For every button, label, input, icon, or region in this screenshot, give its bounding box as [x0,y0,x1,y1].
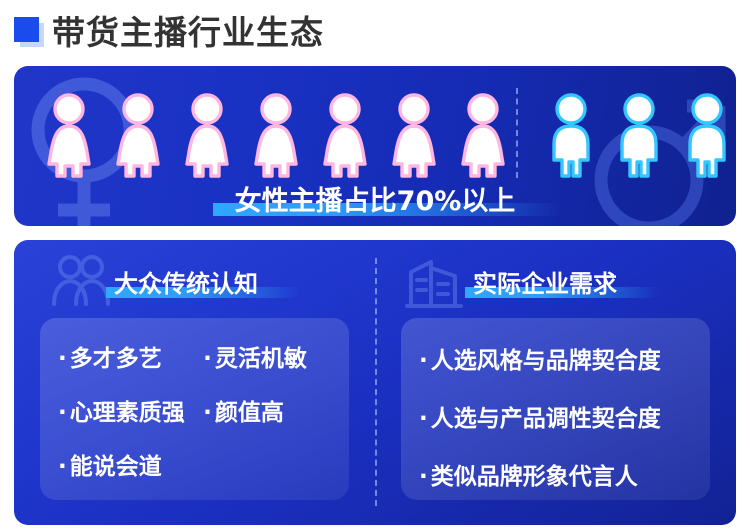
female-figure [109,92,167,178]
female-person-icon [178,92,236,178]
female-figure [385,92,443,178]
female-figure [454,92,512,178]
list-item: ·灵活机敏 [203,332,337,386]
column-enterprise-demand: 实际企业需求 ·人选风格与品牌契合度·人选与产品调性契合度·类似品牌形象代言人 [375,240,736,525]
male-figure [542,92,600,178]
list-item-label: 人选与产品调性契合度 [431,406,661,432]
list-item: ·人选与产品调性契合度 [419,390,698,448]
list-item: ·多才多艺 [58,332,203,386]
female-figure [40,92,98,178]
items-list-right: ·人选风格与品牌契合度·人选与产品调性契合度·类似品牌形象代言人 [419,332,698,490]
female-person-icon [454,92,512,178]
list-bullet: · [58,454,67,480]
column-header-left: 大众传统认知 [14,250,375,312]
female-figure [178,92,236,178]
items-box-right: ·人选风格与品牌契合度·人选与产品调性契合度·类似品牌形象代言人 [401,318,710,500]
list-item: ·颜值高 [203,386,337,440]
headline-text: 女性主播占比70%以上 [235,179,516,218]
list-item: ·类似品牌形象代言人 [419,448,698,506]
list-bullet: · [203,400,212,426]
list-item-label: 灵活机敏 [215,346,307,372]
list-item: ·人选风格与品牌契合度 [419,332,698,390]
gender-ratio-panel: 女性主播占比70%以上 [14,66,736,226]
column-header-right: 实际企业需求 [375,250,736,312]
column-title-left: 大众传统认知 [114,264,258,299]
male-figure [610,92,668,178]
list-item-label: 多才多艺 [70,346,162,372]
page-title: 带货主播行业生态 [52,16,324,49]
male-figure [678,92,736,178]
perception-vs-demand-panel: 大众传统认知 ·多才多艺·灵活机敏·心理素质强·颜值高·能说会道 实际企业需求 [14,240,736,525]
list-item-label: 类似品牌形象代言人 [431,464,638,490]
female-person-icon [316,92,374,178]
list-bullet: · [419,464,428,490]
male-person-icon [610,92,668,178]
list-item-label: 能说会道 [70,454,162,480]
female-person-icon [247,92,305,178]
list-item-label: 颜值高 [215,400,284,426]
gender-divider [516,88,518,178]
items-list-left: ·多才多艺·灵活机敏·心理素质强·颜值高·能说会道 [58,332,337,490]
title-bullet-square [14,17,44,47]
list-bullet: · [419,406,428,432]
list-bullet: · [58,346,67,372]
male-person-icon [542,92,600,178]
female-figure [316,92,374,178]
male-person-icon [678,92,736,178]
people-group-icon [48,254,110,310]
title-bullet-fill [14,17,39,42]
list-item: ·心理素质强 [58,386,203,440]
list-item-label: 人选风格与品牌契合度 [431,348,661,374]
column-public-perception: 大众传统认知 ·多才多艺·灵活机敏·心理素质强·颜值高·能说会道 [14,240,375,525]
female-figure [247,92,305,178]
list-item-label: 心理素质强 [70,400,185,426]
female-person-icon [385,92,443,178]
list-bullet: · [58,400,67,426]
female-person-icon [40,92,98,178]
column-title-right: 实际企业需求 [473,264,617,299]
page-header: 带货主播行业生态 [14,10,324,54]
items-box-left: ·多才多艺·灵活机敏·心理素质强·颜值高·能说会道 [40,318,349,500]
office-building-icon [405,254,467,310]
list-bullet: · [419,348,428,374]
figures-row [14,92,736,178]
female-person-icon [109,92,167,178]
headline-wrapper: 女性主播占比70%以上 [14,178,736,218]
list-item: ·能说会道 [58,440,337,494]
list-bullet: · [203,346,212,372]
